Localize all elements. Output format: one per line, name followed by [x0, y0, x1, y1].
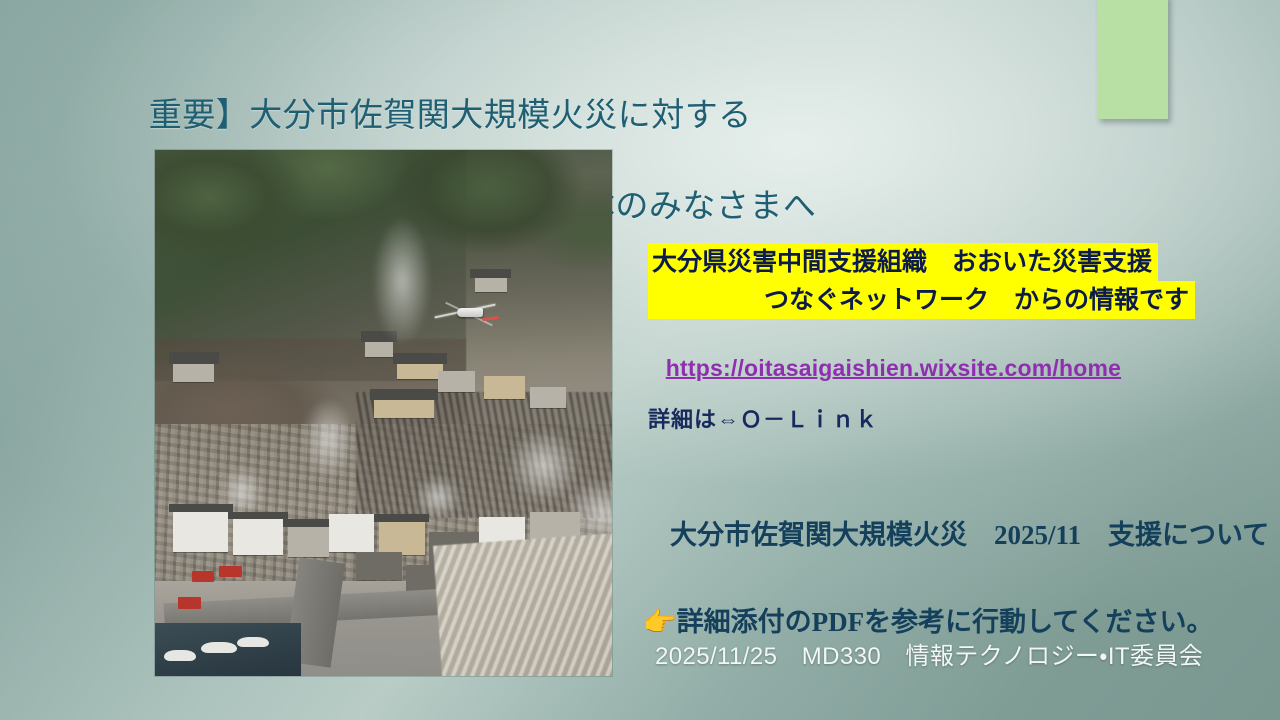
photo-building — [329, 514, 375, 552]
photo-building — [173, 509, 228, 552]
notice-line-2-text: 詳細添付のPDFを参考に行動してください。 — [677, 607, 1214, 637]
photo-content — [155, 150, 612, 676]
photo-building — [484, 376, 525, 399]
photo-building — [475, 276, 507, 292]
photo-smoke-plume — [292, 381, 365, 497]
photo-fire-truck — [192, 571, 215, 583]
photo-smoke-plume — [361, 192, 443, 371]
link-description: 詳細は⇔Ｏ－Ｌｉｎｋ — [648, 402, 1121, 434]
photo-building — [173, 360, 214, 382]
photo-building — [233, 517, 283, 555]
photo-boat — [164, 650, 196, 662]
photo-rocky-shore — [433, 533, 612, 676]
highlight-line-1: 大分県災害中間支援組織 おおいた災害支援 — [648, 243, 1158, 281]
disaster-photo — [155, 150, 612, 676]
notice-block: 大分市佐賀関大規模火災 2025/11 支援について 👉詳細添付のPDFを参考に… — [643, 470, 1269, 720]
link-block: https://oitasaigaishien.wixsite.com/home… — [648, 337, 1121, 470]
photo-roof — [370, 389, 439, 401]
photo-roof — [228, 512, 287, 520]
photo-roof — [470, 269, 511, 278]
photo-building — [288, 524, 329, 557]
photo-roof — [169, 352, 219, 364]
footer-credit: 2025/11/25 MD330 情報テクノロジー・IT委員会 — [655, 636, 1203, 671]
photo-boat — [201, 642, 238, 654]
photo-building — [438, 371, 475, 392]
decorative-green-rectangle — [1097, 0, 1168, 119]
photo-building — [379, 519, 425, 554]
presentation-slide: 重要】大分市佐賀関大規模火災に対する 支援活動を考えている団体のみなさまへ — [0, 0, 1280, 720]
notice-line-1: 大分市佐賀関大規模火災 2025/11 支援について — [670, 520, 1269, 550]
highlight-block: 大分県災害中間支援組織 おおいた災害支援 つなぐネットワーク からの情報です — [648, 243, 1195, 319]
photo-fire-truck — [178, 597, 201, 609]
photo-roof — [374, 514, 429, 522]
photo-building — [530, 387, 567, 408]
photo-building — [374, 397, 433, 418]
pointing-right-icon: 👉 — [643, 607, 677, 637]
photo-building — [356, 552, 402, 580]
photo-roof — [283, 519, 333, 527]
photo-helicopter — [457, 308, 483, 317]
photo-boat — [237, 637, 269, 648]
photo-roof — [169, 504, 233, 512]
page-title-line-1: 重要】大分市佐賀関大規模火災に対する — [149, 96, 752, 133]
website-link[interactable]: https://oitasaigaishien.wixsite.com/home — [666, 355, 1121, 382]
photo-fire-truck — [219, 566, 242, 578]
highlight-line-2: つなぐネットワーク からの情報です — [648, 281, 1195, 319]
